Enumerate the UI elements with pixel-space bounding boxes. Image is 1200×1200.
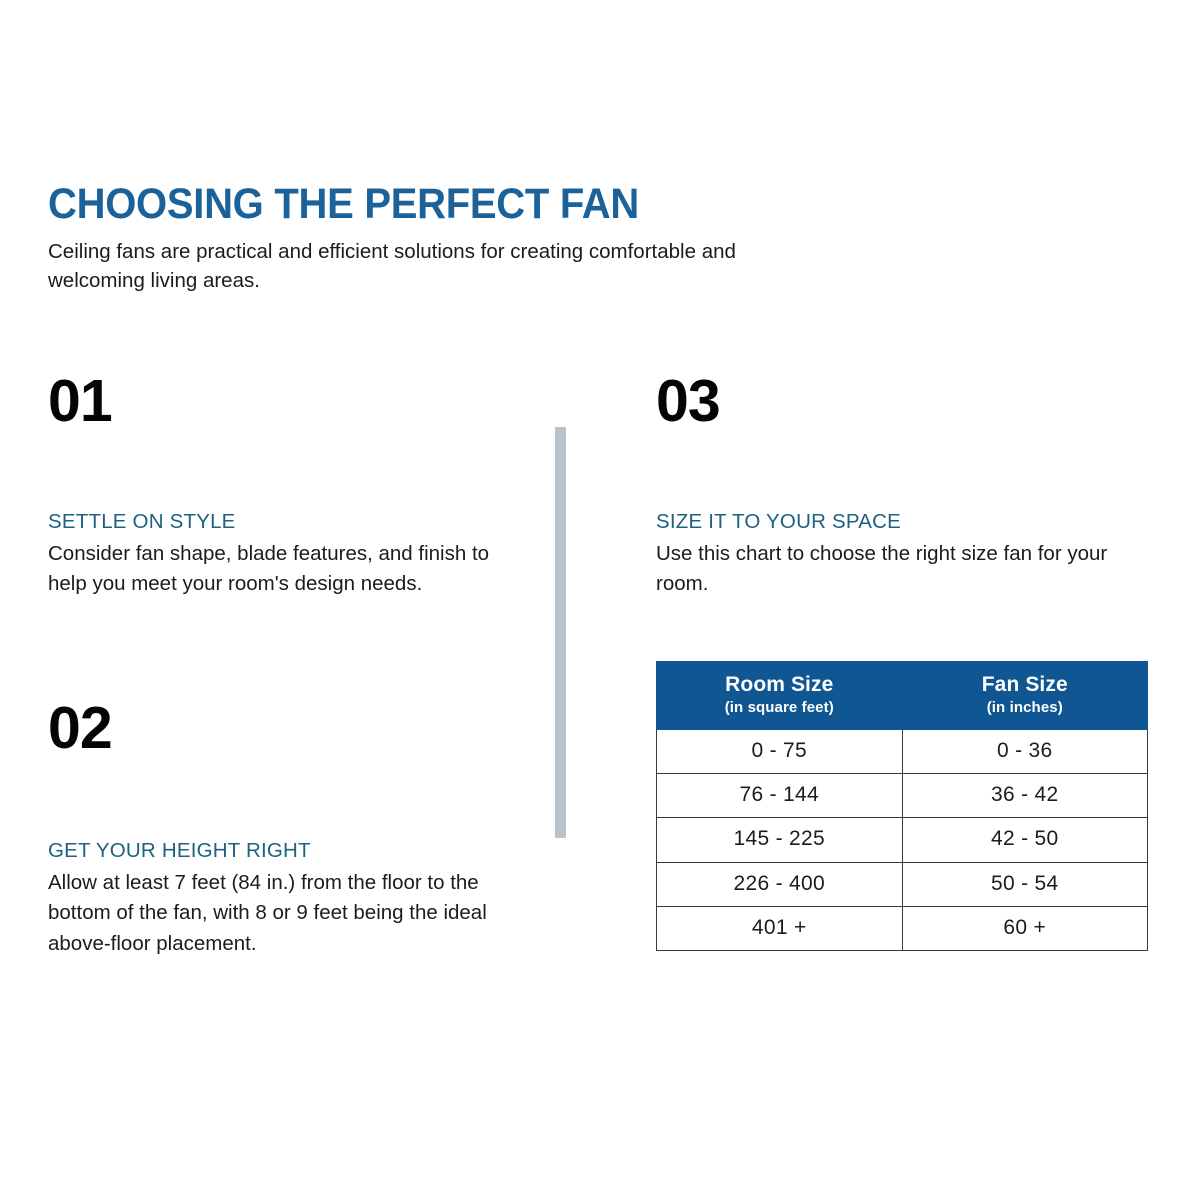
table-row: 145 - 225 42 - 50 xyxy=(657,818,1148,862)
step-block-03: 03 SIZE IT TO YOUR SPACE Use this chart … xyxy=(656,372,1156,599)
step-number-03: 03 xyxy=(656,372,1156,431)
size-chart-wrapper: Room Size (in square feet) Fan Size (in … xyxy=(656,661,1148,951)
table-header-fan-size-sub: (in inches) xyxy=(907,699,1144,717)
table-row: 226 - 400 50 - 54 xyxy=(657,862,1148,906)
cell-room-size: 401 + xyxy=(657,906,903,950)
step-number-01: 01 xyxy=(48,372,503,431)
table-header-fan-size: Fan Size (in inches) xyxy=(902,662,1148,730)
step-body-01: Consider fan shape, blade features, and … xyxy=(48,539,503,600)
table-header: Room Size (in square feet) Fan Size (in … xyxy=(657,662,1148,730)
right-column: 03 SIZE IT TO YOUR SPACE Use this chart … xyxy=(656,372,1156,951)
cell-room-size: 145 - 225 xyxy=(657,818,903,862)
page-title: CHOOSING THE PERFECT FAN xyxy=(48,182,792,227)
cell-fan-size: 36 - 42 xyxy=(902,774,1148,818)
step-heading-02: GET YOUR HEIGHT RIGHT xyxy=(48,838,503,865)
table-row: 76 - 144 36 - 42 xyxy=(657,774,1148,818)
table-row: 0 - 75 0 - 36 xyxy=(657,729,1148,773)
table-row: 401 + 60 + xyxy=(657,906,1148,950)
cell-room-size: 76 - 144 xyxy=(657,774,903,818)
cell-fan-size: 0 - 36 xyxy=(902,729,1148,773)
table-header-room-size-sub: (in square feet) xyxy=(661,699,898,717)
cell-fan-size: 42 - 50 xyxy=(902,818,1148,862)
cell-fan-size: 50 - 54 xyxy=(902,862,1148,906)
header-block: CHOOSING THE PERFECT FAN Ceiling fans ar… xyxy=(48,182,848,295)
intro-paragraph: Ceiling fans are practical and efficient… xyxy=(48,237,818,295)
left-column: 01 SETTLE ON STYLE Consider fan shape, b… xyxy=(48,372,503,959)
step-block-01: 01 SETTLE ON STYLE Consider fan shape, b… xyxy=(48,372,503,599)
cell-room-size: 226 - 400 xyxy=(657,862,903,906)
step-heading-03: SIZE IT TO YOUR SPACE xyxy=(656,509,1156,536)
table-header-row: Room Size (in square feet) Fan Size (in … xyxy=(657,662,1148,730)
table-body: 0 - 75 0 - 36 76 - 144 36 - 42 145 - 225… xyxy=(657,729,1148,950)
table-header-fan-size-main: Fan Size xyxy=(907,673,1144,697)
infographic-page: CHOOSING THE PERFECT FAN Ceiling fans ar… xyxy=(0,0,1200,1200)
cell-fan-size: 60 + xyxy=(902,906,1148,950)
step-body-02: Allow at least 7 feet (84 in.) from the … xyxy=(48,868,503,959)
column-divider xyxy=(555,427,566,838)
step-number-02: 02 xyxy=(48,699,503,758)
step-body-03: Use this chart to choose the right size … xyxy=(656,539,1156,600)
step-block-02: 02 GET YOUR HEIGHT RIGHT Allow at least … xyxy=(48,699,503,959)
fan-size-table: Room Size (in square feet) Fan Size (in … xyxy=(656,661,1148,951)
table-header-room-size-main: Room Size xyxy=(661,673,898,697)
step-heading-01: SETTLE ON STYLE xyxy=(48,509,503,536)
cell-room-size: 0 - 75 xyxy=(657,729,903,773)
table-header-room-size: Room Size (in square feet) xyxy=(657,662,903,730)
